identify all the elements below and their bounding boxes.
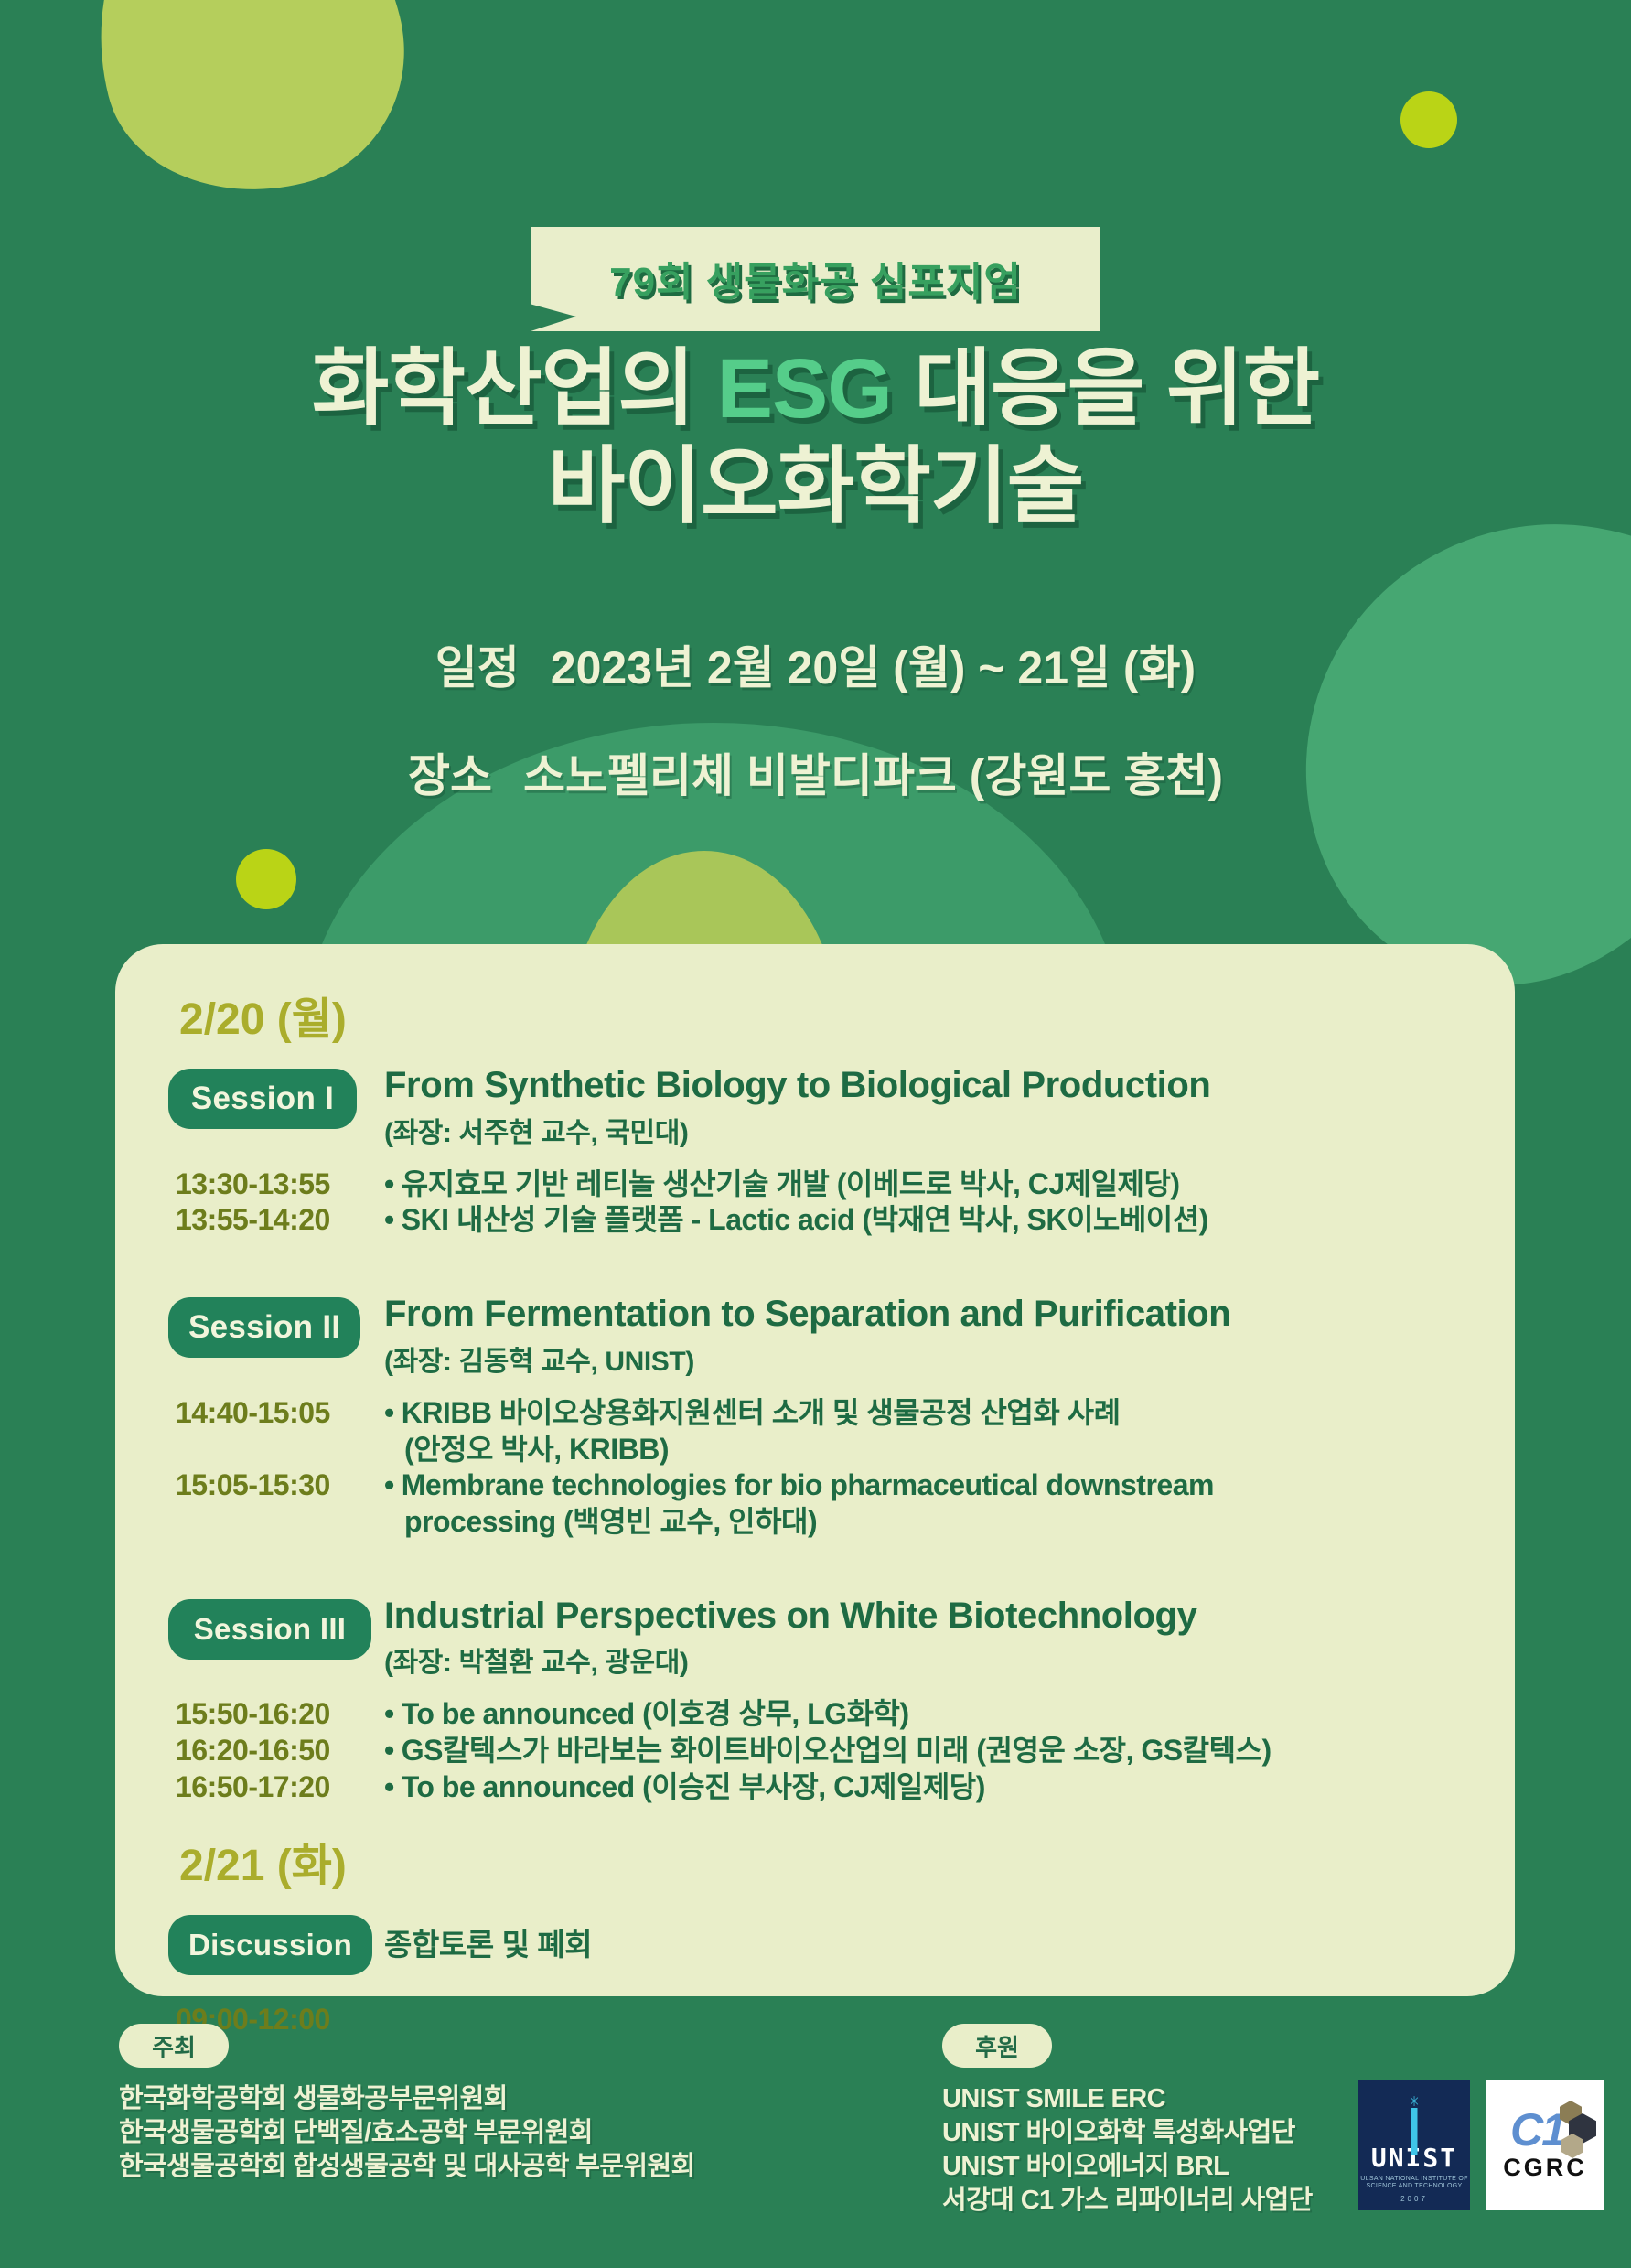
- talk-row: 14:40-15:05 •KRIBB 바이오상용화지원센터 소개 및 생물공정 …: [168, 1395, 1462, 1467]
- cgrc-wordmark: CGRC: [1503, 2154, 1587, 2182]
- poster-title: 화학산업의 ESG 대응을 위한 바이오화학기술: [0, 340, 1631, 535]
- talk-row: 16:50-17:20 •To be announced (이승진 부사장, C…: [168, 1769, 1462, 1806]
- unist-year: 2007: [1400, 2195, 1428, 2203]
- session-body-1: From Synthetic Biology to Biological Pro…: [384, 1065, 1462, 1150]
- title-line-1-part-b: 대응을 위한: [892, 342, 1319, 435]
- talk-text: •Membrane technologies for bio pharmaceu…: [384, 1467, 1462, 1540]
- session-chair-3: (좌장: 박철환 교수, 광운대): [384, 1639, 1462, 1680]
- talk-time: 15:50-16:20: [168, 1696, 384, 1733]
- bullet-icon: •: [384, 1167, 394, 1200]
- logo-row: ✳ UNIST ULSAN NATIONAL INSTITUTE OF SCIE…: [1358, 2080, 1604, 2210]
- talk-row: 15:05-15:30 •Membrane technologies for b…: [168, 1467, 1462, 1540]
- unist-logo-bar: [1411, 2108, 1418, 2155]
- poster-root: 79회 생물화공 심포지엄 화학산업의 ESG 대응을 위한 바이오화학기술 일…: [0, 0, 1631, 2268]
- talk-text: •SKI 내산성 기술 플랫폼 - Lactic acid (박재연 박사, S…: [384, 1202, 1462, 1239]
- session-pill-col-3: Session III: [168, 1596, 384, 1681]
- talk-row: 16:20-16:50 •GS칼텍스가 바라보는 화이트바이오산업의 미래 (권…: [168, 1733, 1462, 1769]
- talk-title: 유지효모 기반 레티놀 생산기술 개발 (이베드로 박사, CJ제일제당): [402, 1167, 1180, 1200]
- bullet-icon: •: [384, 1468, 394, 1501]
- session-block-2: Session II From Fermentation to Separati…: [168, 1294, 1462, 1379]
- talk-continuation: (안정오 박사, KRIBB): [384, 1432, 1462, 1468]
- session-pill-1[interactable]: Session I: [168, 1069, 357, 1129]
- session-pill-col-2: Session II: [168, 1294, 384, 1379]
- day-label-1: 2/20 (월): [179, 983, 1462, 1047]
- host-item: 한국화학공학회 생물화공부문위원회: [119, 2082, 695, 2116]
- unist-logo: ✳ UNIST ULSAN NATIONAL INSTITUTE OF SCIE…: [1358, 2080, 1470, 2210]
- talk-text: •KRIBB 바이오상용화지원센터 소개 및 생물공정 산업화 사례 (안정오 …: [384, 1395, 1462, 1467]
- session-title-2: From Fermentation to Separation and Puri…: [384, 1294, 1462, 1335]
- talk-row: 15:50-16:20 •To be announced (이호경 상무, LG…: [168, 1696, 1462, 1733]
- sponsor-item: 서강대 C1 가스 리파이너리 사업단: [942, 2184, 1313, 2218]
- venue-label: 장소: [408, 750, 492, 801]
- talk-list-1: 13:30-13:55 •유지효모 기반 레티놀 생산기술 개발 (이베드로 박…: [168, 1166, 1462, 1239]
- host-item: 한국생물공학회 합성생물공학 및 대사공학 부문위원회: [119, 2150, 695, 2184]
- talk-text: •To be announced (이승진 부사장, CJ제일제당): [384, 1769, 1462, 1806]
- bullet-icon: •: [384, 1697, 394, 1730]
- session-title-1: From Synthetic Biology to Biological Pro…: [384, 1065, 1462, 1106]
- talk-time: 13:30-13:55: [168, 1166, 384, 1203]
- session-block-1: Session I From Synthetic Biology to Biol…: [168, 1065, 1462, 1150]
- program-card: 2/20 (월) Session I From Synthetic Biolog…: [115, 944, 1515, 1996]
- session-block-3: Session III Industrial Perspectives on W…: [168, 1596, 1462, 1681]
- ribbon-banner: 79회 생물화공 심포지엄: [0, 227, 1631, 331]
- ribbon-label: 79회 생물화공 심포지엄: [609, 249, 1022, 307]
- talk-text: •유지효모 기반 레티놀 생산기술 개발 (이베드로 박사, CJ제일제당): [384, 1166, 1462, 1203]
- talk-row: 13:55-14:20 •SKI 내산성 기술 플랫폼 - Lactic aci…: [168, 1202, 1462, 1239]
- title-line-2: 바이오화학기술: [0, 438, 1631, 536]
- day-label-2: 2/21 (화): [179, 1829, 1462, 1893]
- talk-title: Membrane technologies for bio pharmaceut…: [402, 1468, 1214, 1501]
- leaf-shape-top-left: [60, 0, 433, 224]
- talk-text: •To be announced (이호경 상무, LG화학): [384, 1696, 1462, 1733]
- discussion-pill-col: Discussion: [168, 1911, 384, 1975]
- event-info: 일정2023년 2월 20일 (월) ~ 21일 (화) 장소소노펠리체 비발디…: [0, 631, 1631, 847]
- talk-time: 13:55-14:20: [168, 1202, 384, 1239]
- talk-continuation: processing (백영빈 교수, 인하대): [384, 1504, 1462, 1541]
- date-row: 일정2023년 2월 20일 (월) ~ 21일 (화): [0, 631, 1631, 697]
- title-line-1-part-a: 화학산업의: [312, 342, 717, 435]
- session-pill-2[interactable]: Session II: [168, 1297, 360, 1358]
- dot-circle-top-right: [1400, 91, 1457, 148]
- talk-text: •GS칼텍스가 바라보는 화이트바이오산업의 미래 (권영운 소장, GS칼텍스…: [384, 1733, 1462, 1769]
- discussion-title: 종합토론 및 폐회: [384, 1911, 1462, 1964]
- talk-time: 16:50-17:20: [168, 1769, 384, 1806]
- c1-cgrc-logo: C1 CGRC: [1486, 2080, 1604, 2210]
- host-column: 주최 한국화학공학회 생물화공부문위원회 한국생물공학회 단백질/효소공학 부문…: [119, 2024, 695, 2184]
- discussion-pill[interactable]: Discussion: [168, 1915, 372, 1975]
- bullet-icon: •: [384, 1396, 394, 1429]
- session-pill-col-1: Session I: [168, 1065, 384, 1150]
- sponsor-item: UNIST 바이오화학 특성화사업단: [942, 2116, 1313, 2150]
- poster-footer: 주최 한국화학공학회 생물화공부문위원회 한국생물공학회 단백질/효소공학 부문…: [0, 2024, 1631, 2268]
- talk-title: To be announced (이승진 부사장, CJ제일제당): [402, 1770, 985, 1803]
- talk-title: To be announced (이호경 상무, LG화학): [402, 1697, 909, 1730]
- title-line-1: 화학산업의 ESG 대응을 위한: [0, 340, 1631, 438]
- session-title-3: Industrial Perspectives on White Biotech…: [384, 1596, 1462, 1637]
- date-value: 2023년 2월 20일 (월) ~ 21일 (화): [551, 642, 1196, 693]
- venue-row: 장소소노펠리체 비발디파크 (강원도 홍천): [0, 739, 1631, 805]
- bullet-icon: •: [384, 1770, 394, 1803]
- date-label: 일정: [435, 642, 520, 693]
- session-body-3: Industrial Perspectives on White Biotech…: [384, 1596, 1462, 1681]
- sponsor-label: 후원: [942, 2024, 1052, 2068]
- sponsor-item: UNIST SMILE ERC: [942, 2082, 1313, 2116]
- session-chair-2: (좌장: 김동혁 교수, UNIST): [384, 1338, 1462, 1379]
- sponsor-column: 후원 UNIST SMILE ERC UNIST 바이오화학 특성화사업단 UN…: [942, 2024, 1313, 2218]
- host-item: 한국생물공학회 단백질/효소공학 부문위원회: [119, 2116, 695, 2150]
- discussion-block: Discussion 종합토론 및 폐회: [168, 1911, 1462, 1975]
- talk-time: 16:20-16:50: [168, 1733, 384, 1769]
- talk-time: 15:05-15:30: [168, 1467, 384, 1504]
- talk-title: KRIBB 바이오상용화지원센터 소개 및 생물공정 산업화 사례: [402, 1396, 1121, 1429]
- host-label: 주최: [119, 2024, 229, 2068]
- talk-list-3: 15:50-16:20 •To be announced (이호경 상무, LG…: [168, 1696, 1462, 1805]
- discussion-body: 종합토론 및 폐회: [384, 1911, 1462, 1975]
- bullet-icon: •: [384, 1734, 394, 1767]
- venue-value: 소노펠리체 비발디파크 (강원도 홍천): [523, 750, 1223, 801]
- talk-title: SKI 내산성 기술 플랫폼 - Lactic acid (박재연 박사, SK…: [402, 1203, 1208, 1236]
- dot-circle-left: [236, 849, 296, 909]
- c1-mark: C1: [1510, 2109, 1565, 2153]
- talk-time: 14:40-15:05: [168, 1395, 384, 1432]
- title-accent-esg: ESG: [717, 342, 892, 435]
- sponsor-list: UNIST SMILE ERC UNIST 바이오화학 특성화사업단 UNIST…: [942, 2082, 1313, 2218]
- host-list: 한국화학공학회 생물화공부문위원회 한국생물공학회 단백질/효소공학 부문위원회…: [119, 2082, 695, 2184]
- session-chair-1: (좌장: 서주현 교수, 국민대): [384, 1110, 1462, 1150]
- sponsor-item: UNIST 바이오에너지 BRL: [942, 2150, 1313, 2184]
- session-body-2: From Fermentation to Separation and Puri…: [384, 1294, 1462, 1379]
- talk-title: GS칼텍스가 바라보는 화이트바이오산업의 미래 (권영운 소장, GS칼텍스): [402, 1734, 1272, 1767]
- session-pill-3[interactable]: Session III: [168, 1599, 371, 1660]
- ribbon-shape: 79회 생물화공 심포지엄: [531, 227, 1100, 331]
- talk-row: 13:30-13:55 •유지효모 기반 레티놀 생산기술 개발 (이베드로 박…: [168, 1166, 1462, 1203]
- bullet-icon: •: [384, 1203, 394, 1236]
- talk-list-2: 14:40-15:05 •KRIBB 바이오상용화지원센터 소개 및 생물공정 …: [168, 1395, 1462, 1541]
- unist-subtitle: ULSAN NATIONAL INSTITUTE OF SCIENCE AND …: [1358, 2176, 1470, 2192]
